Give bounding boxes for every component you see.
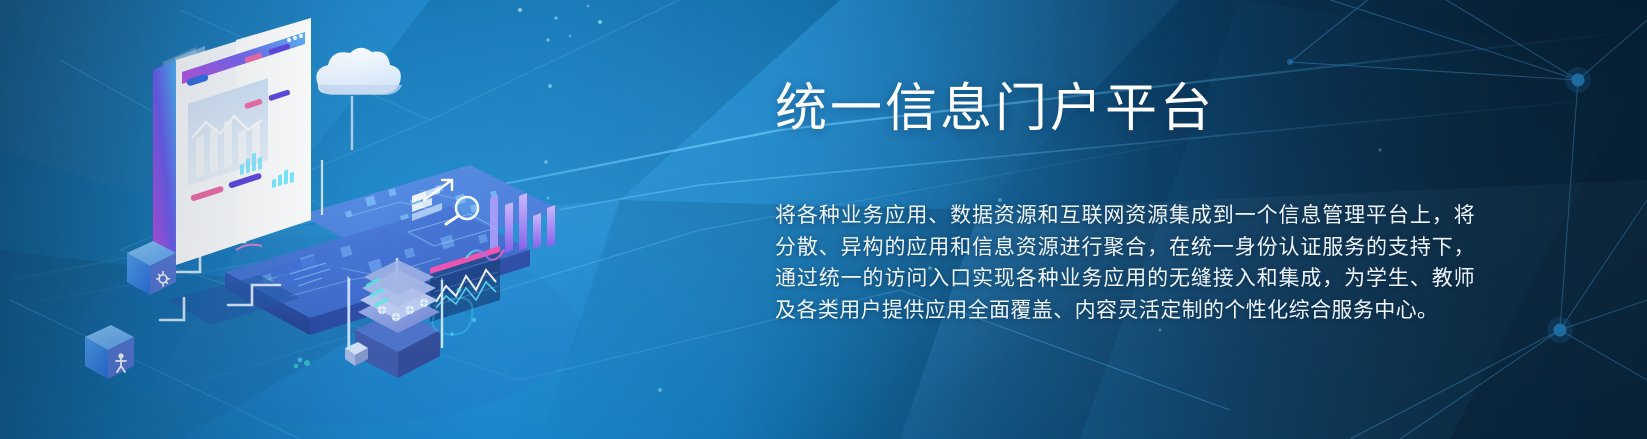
hero-banner: 统一信息门户平台 将各种业务应用、数据资源和互联网资源集成到一个信息管理平台上，… xyxy=(0,0,1647,439)
banner-description: 将各种业务应用、数据资源和互联网资源集成到一个信息管理平台上，将分散、异构的应用… xyxy=(775,200,1475,326)
banner-text-block: 统一信息门户平台 将各种业务应用、数据资源和互联网资源集成到一个信息管理平台上，… xyxy=(775,78,1475,326)
page-title: 统一信息门户平台 xyxy=(775,78,1475,140)
